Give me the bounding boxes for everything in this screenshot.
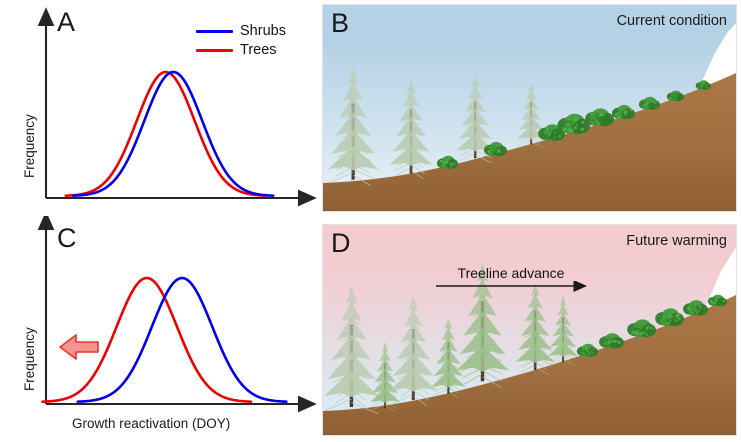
- tree: [388, 79, 434, 179]
- shrub: [483, 140, 507, 156]
- tree: [547, 296, 579, 366]
- shrub: [638, 95, 660, 110]
- shrub: [707, 293, 727, 307]
- legend-item-shrubs: Shrubs: [196, 22, 286, 41]
- panel-a-legend: Shrubs Trees: [196, 22, 286, 60]
- panel-d-landscape: D Future warming Treeline advance: [322, 224, 737, 436]
- shrub: [584, 106, 614, 126]
- shrub: [695, 79, 711, 90]
- legend-label-shrubs: Shrubs: [240, 24, 286, 39]
- shrub: [598, 331, 624, 349]
- figure-root: A Frequency Shrubs Trees: [0, 0, 741, 442]
- shrub: [654, 306, 684, 326]
- panel-d-vegetation: [323, 225, 736, 435]
- panel-b-vegetation: [323, 5, 736, 211]
- legend-swatch-shrubs: [196, 30, 233, 33]
- panel-d-letter: D: [331, 230, 351, 257]
- panel-c-distribution-chart: C Frequency Growth reactivation (DOY): [0, 216, 318, 442]
- earlier-growth-reactivation-arrow: [60, 335, 98, 359]
- panel-a-distribution-chart: A Frequency Shrubs Trees: [0, 0, 318, 216]
- shrub: [436, 154, 458, 169]
- panel-c-letter: C: [57, 225, 77, 252]
- shrub: [611, 103, 635, 119]
- legend-swatch-trees: [196, 49, 233, 52]
- panel-a-curve-trees: [66, 72, 266, 196]
- shrub: [682, 298, 708, 316]
- panel-d-title: Future warming: [626, 233, 727, 249]
- treeline-advance-annotation: Treeline advance: [435, 266, 587, 293]
- panel-b-landscape: B Current condition: [322, 4, 737, 212]
- legend-item-trees: Trees: [196, 41, 286, 60]
- treeline-advance-arrow: [435, 281, 587, 293]
- shrub: [626, 317, 656, 337]
- panel-b-title: Current condition: [617, 13, 727, 29]
- panel-a-curve-shrubs: [73, 72, 273, 196]
- panel-c-plot-svg: [0, 216, 318, 442]
- treeline-advance-label: Treeline advance: [435, 266, 587, 281]
- tree: [326, 68, 380, 186]
- legend-label-trees: Trees: [240, 43, 277, 58]
- panel-a-letter: A: [57, 9, 75, 36]
- shrub: [576, 342, 598, 357]
- shrub: [666, 89, 684, 101]
- panel-b-letter: B: [331, 10, 349, 37]
